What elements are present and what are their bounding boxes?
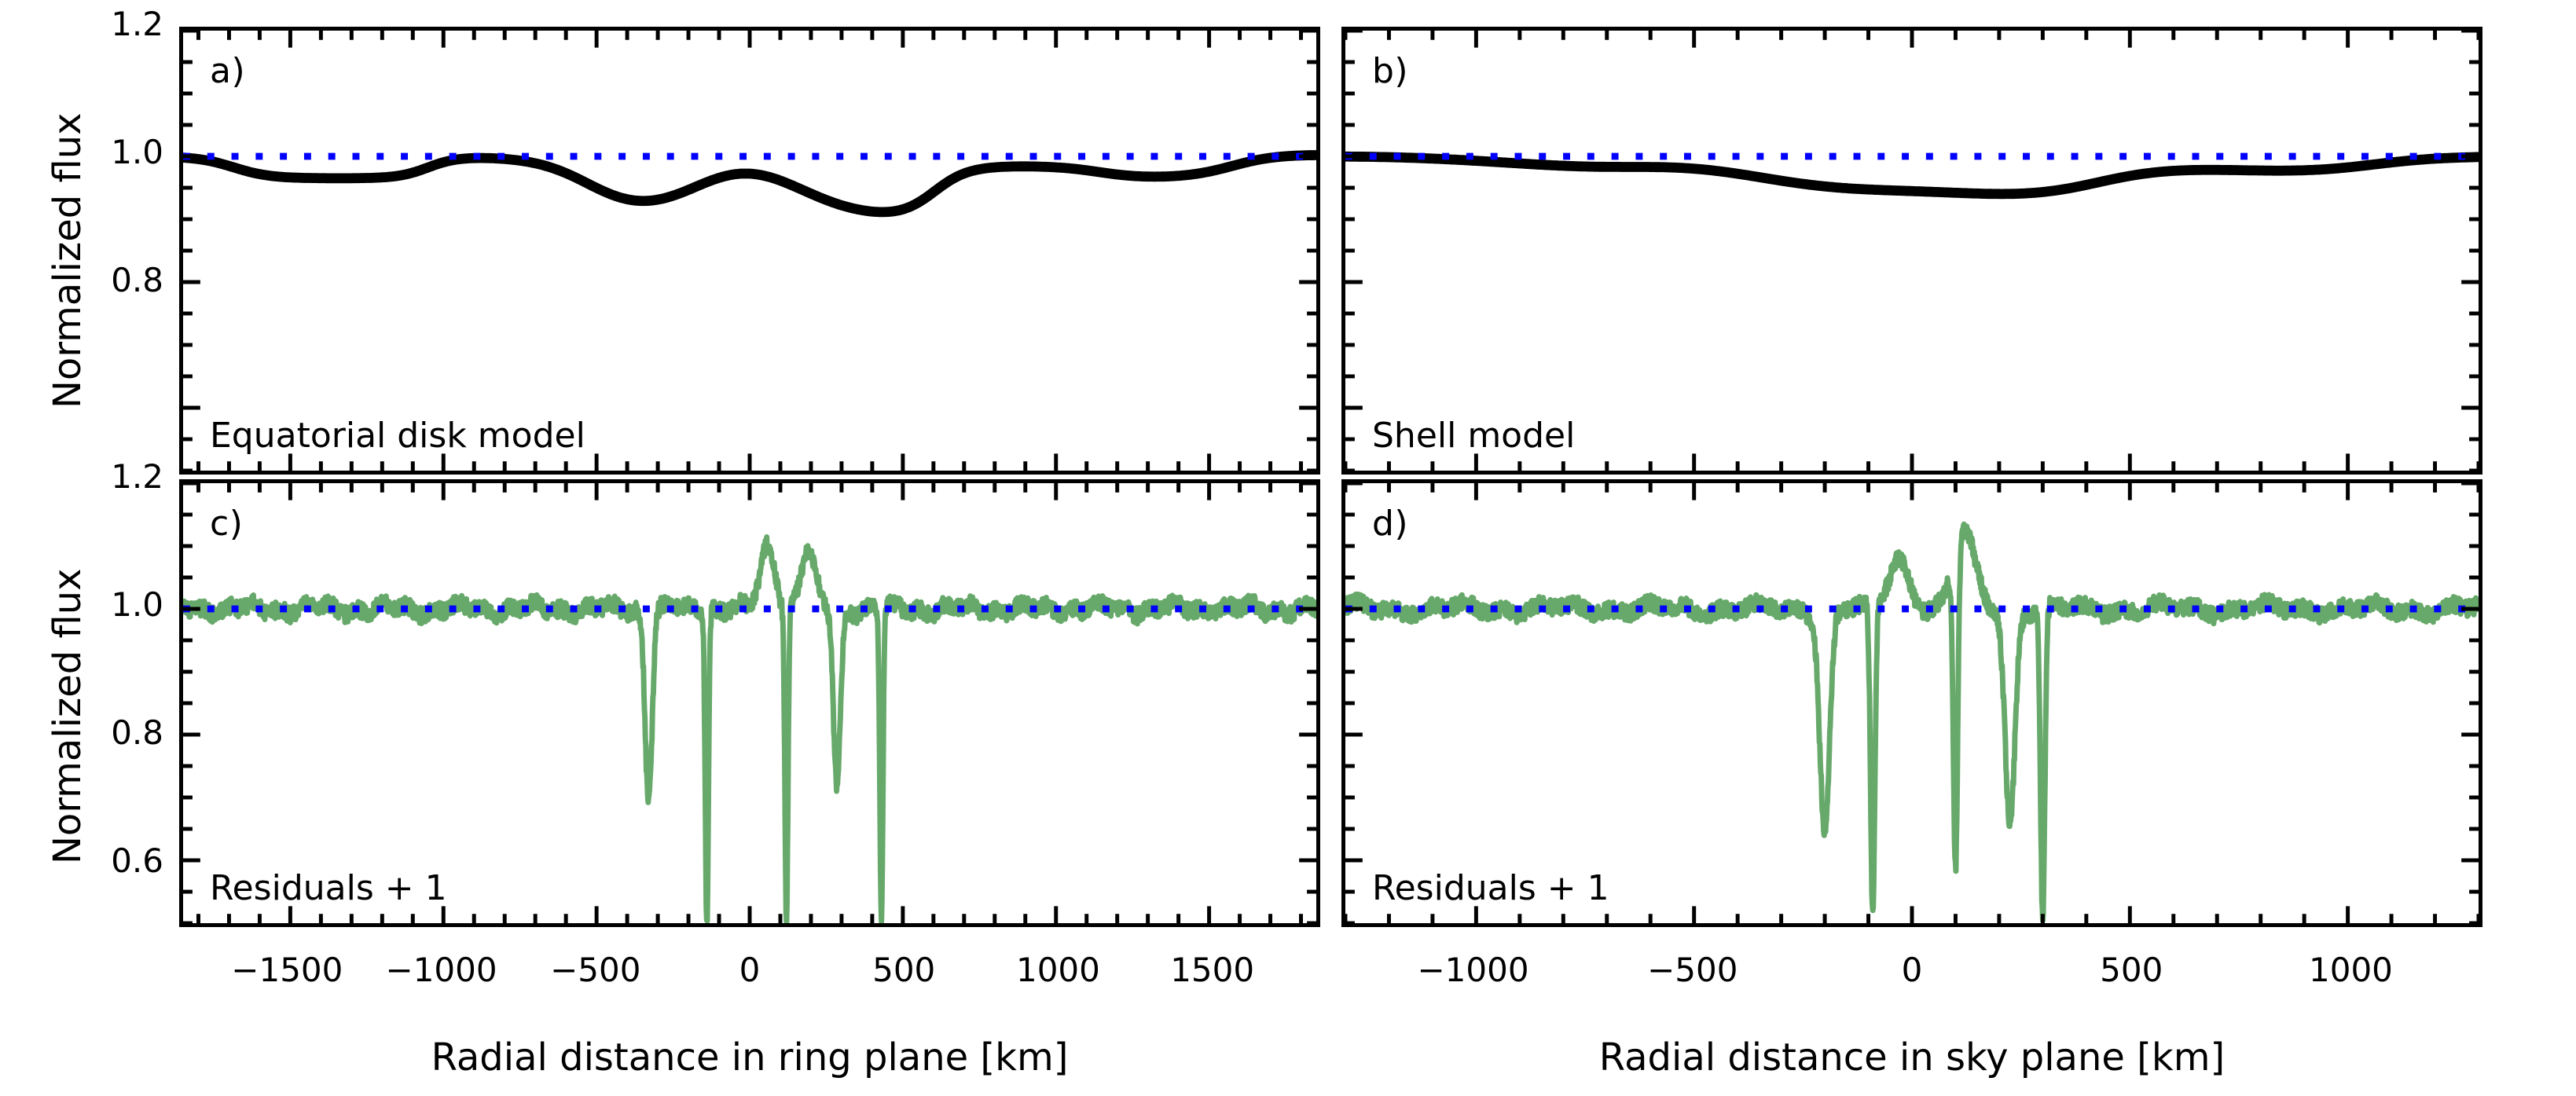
panel-a-equatorial-disk-model: a) Equatorial disk model (179, 27, 1320, 475)
xtick-label-d-1: −500 (1606, 951, 1779, 989)
xtick-label-c-1: −1000 (355, 951, 528, 989)
xtick-label-c-3: 0 (663, 951, 836, 989)
xtick-label-c-2: −500 (509, 951, 682, 989)
panel-c-caption: Residuals + 1 (210, 868, 447, 908)
panel-a-plot-area (183, 31, 1316, 471)
x-axis-title-right: Radial distance in sky plane [km] (1341, 1036, 2482, 1080)
figure-canvas: Normalized flux Normalized flux Radial d… (0, 0, 2576, 1096)
xtick-label-c-0: −1500 (200, 951, 373, 989)
panel-d-letter: d) (1372, 504, 1408, 544)
xtick-label-d-4: 1000 (2264, 951, 2437, 989)
ytick-label-a-1.2: 1.2 (53, 5, 163, 43)
panel-d-residuals-right: d) Residuals + 1 (1341, 479, 2482, 927)
panel-d-tickmarks (1345, 483, 2479, 923)
panel-d-caption: Residuals + 1 (1372, 868, 1609, 908)
xtick-label-d-0: −1000 (1387, 951, 1560, 989)
xtick-label-c-4: 500 (817, 951, 990, 989)
panel-c-letter: c) (210, 504, 243, 544)
panel-a-tickmarks (183, 31, 1316, 471)
xtick-label-c-5: 1000 (971, 951, 1144, 989)
panel-b-caption: Shell model (1372, 416, 1575, 456)
panel-b-letter: b) (1372, 51, 1408, 91)
panel-d-plot-area (1345, 483, 2479, 923)
ytick-label-a-0.8: 0.8 (53, 261, 163, 299)
xtick-label-d-2: 0 (1826, 951, 1998, 989)
residual-curve-c (183, 537, 1316, 922)
ytick-label-c-1.0: 1.0 (53, 585, 163, 624)
panel-b-shell-model: b) Shell model (1341, 27, 2482, 475)
panel-b-tickmarks (1345, 31, 2479, 471)
ytick-label-c-1.2: 1.2 (53, 457, 163, 496)
ytick-label-a-1.0: 1.0 (53, 133, 163, 171)
panel-c-residuals-left: c) Residuals + 1 (179, 479, 1320, 927)
x-axis-title-left: Radial distance in ring plane [km] (179, 1036, 1320, 1080)
residual-curve-d (1345, 524, 2479, 921)
panel-a-caption: Equatorial disk model (210, 416, 585, 456)
ytick-label-c-0.6: 0.6 (53, 841, 163, 880)
xtick-label-c-6: 1500 (1126, 951, 1299, 989)
panel-c-plot-area (183, 483, 1316, 923)
shell-model-curve (1345, 156, 2479, 194)
disk-model-curve (183, 155, 1316, 211)
panel-a-letter: a) (210, 51, 245, 91)
panel-b-plot-area (1345, 31, 2479, 471)
xtick-label-d-3: 500 (2045, 951, 2218, 989)
panel-c-tickmarks (183, 483, 1316, 923)
ytick-label-c-0.8: 0.8 (53, 713, 163, 752)
